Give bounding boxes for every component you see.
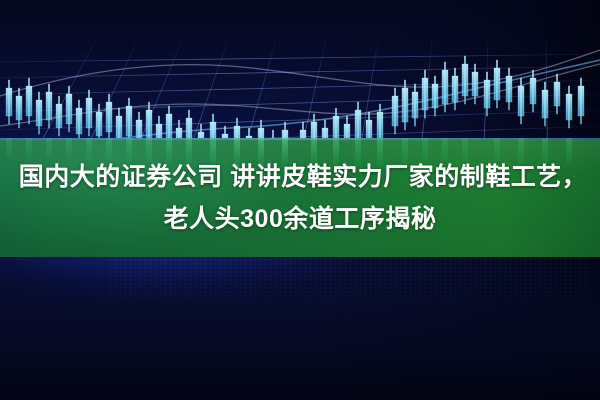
banner-image: 国内大的证券公司 讲讲皮鞋实力厂家的制鞋工艺， 老人头300余道工序揭秘 [0, 0, 600, 400]
headline-line-1: 国内大的证券公司 讲讲皮鞋实力厂家的制鞋工艺， [13, 157, 587, 197]
background-dot-pattern [108, 258, 588, 328]
headline-block: 国内大的证券公司 讲讲皮鞋实力厂家的制鞋工艺， 老人头300余道工序揭秘 [0, 138, 600, 257]
headline-line-2: 老人头300余道工序揭秘 [164, 199, 437, 239]
